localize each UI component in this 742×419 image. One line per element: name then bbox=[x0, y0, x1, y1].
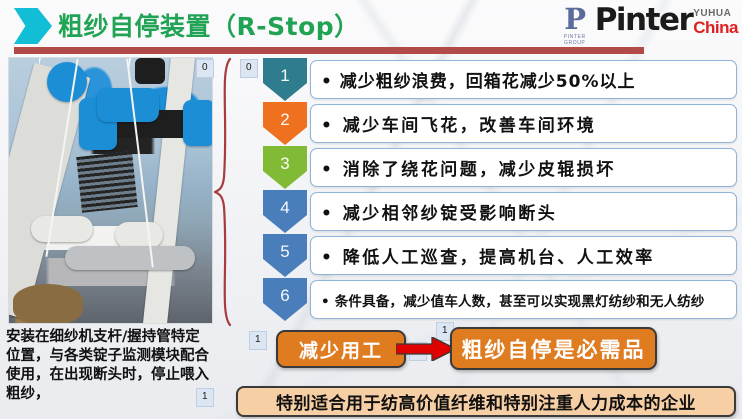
logo-mark-sub-group: GROUP bbox=[558, 40, 592, 46]
benefit-text-2: • 减少车间飞花，改善车间环境 bbox=[321, 111, 596, 136]
curly-brace-icon bbox=[214, 57, 240, 327]
benefit-box-2[interactable]: • 减少车间飞花，改善车间环境 bbox=[310, 104, 737, 143]
benefit-chevron-2: 2 bbox=[263, 102, 307, 145]
annotation-badge-0b: 0 bbox=[240, 59, 258, 78]
photo-detail-rail bbox=[8, 63, 90, 319]
benefit-text-4: • 减少相邻纱锭受影响断头 bbox=[321, 199, 557, 224]
title-underline-rule bbox=[14, 47, 644, 54]
benefit-number-5: 5 bbox=[280, 242, 289, 262]
logo-wordmark: Pinter bbox=[595, 6, 693, 35]
photo-caption: 安装在细纱机支杆/握持管特定位置，与各类锭子监测模块配合使用，在出现断头时，停止… bbox=[6, 328, 211, 405]
page-title: 粗纱自停装置（R-Stop） bbox=[58, 7, 360, 43]
photo-detail-knob bbox=[47, 62, 87, 102]
annotation-badge-0a: 0 bbox=[196, 59, 214, 78]
logo-p-glyph-icon: P bbox=[558, 6, 592, 34]
pinter-logo: P PINTER GROUP Pinter YUHUA China bbox=[558, 6, 738, 52]
benefit-text-3: • 消除了绕花问题，减少皮辊损坏 bbox=[321, 155, 616, 180]
benefit-number-4: 4 bbox=[280, 198, 289, 218]
arrow-marker-icon bbox=[14, 8, 52, 44]
benefit-number-3: 3 bbox=[280, 154, 289, 174]
pinter-logo-mark: P PINTER GROUP bbox=[558, 6, 592, 46]
logo-region-block: YUHUA China bbox=[693, 6, 738, 36]
benefit-box-1[interactable]: • 减少粗纱浪费，回箱花减少50%以上 bbox=[310, 60, 737, 99]
slide-canvas: 粗纱自停装置（R-Stop） P PINTER GROUP Pinter YUH… bbox=[0, 0, 742, 419]
photo-detail-roller-b bbox=[115, 222, 163, 248]
photo-detail-clip-c bbox=[183, 100, 213, 146]
benefit-chevron-1: 1 bbox=[263, 58, 307, 101]
logo-china-text: China bbox=[693, 19, 738, 36]
benefit-chevron-3: 3 bbox=[263, 146, 307, 189]
benefit-number-6: 6 bbox=[280, 286, 289, 306]
benefit-box-4[interactable]: • 减少相邻纱锭受影响断头 bbox=[310, 192, 737, 231]
benefit-chevron-6: 6 bbox=[263, 278, 307, 321]
benefit-row-3[interactable]: 3 • 消除了绕花问题，减少皮辊损坏 bbox=[263, 146, 737, 189]
photo-detail-clip-b bbox=[97, 88, 159, 122]
photo-detail-bobbin bbox=[13, 284, 83, 324]
benefit-row-5[interactable]: 5 • 降低人工巡查，提高机台、人工效率 bbox=[263, 234, 737, 277]
photo-detail-roller-a bbox=[31, 216, 93, 242]
photo-detail-bolt bbox=[135, 58, 165, 84]
benefit-row-4[interactable]: 4 • 减少相邻纱锭受影响断头 bbox=[263, 190, 737, 233]
roving-stop-device-photo bbox=[8, 57, 213, 324]
benefit-box-6[interactable]: • 条件具备，减少值车人数，甚至可以实现黑灯纺纱和无人纺纱 bbox=[310, 280, 737, 319]
benefit-text-5: • 降低人工巡查，提高机台、人工效率 bbox=[321, 243, 655, 268]
red-right-arrow-icon bbox=[396, 337, 456, 361]
annotation-badge-1b: 1 bbox=[249, 331, 267, 350]
benefit-chevron-4: 4 bbox=[263, 190, 307, 233]
footer-highlight-bar: 特别适合用于纺高价值纤维和特别注重人力成本的企业 bbox=[236, 386, 736, 417]
benefit-number-2: 2 bbox=[280, 110, 289, 130]
benefit-text-6: • 条件具备，减少值车人数，甚至可以实现黑灯纺纱和无人纺纱 bbox=[321, 290, 705, 310]
benefit-box-3[interactable]: • 消除了绕花问题，减少皮辊损坏 bbox=[310, 148, 737, 187]
conclusion-pill-right[interactable]: 粗纱自停是必需品 bbox=[450, 327, 657, 370]
photo-detail-grid bbox=[76, 151, 138, 213]
benefit-row-2[interactable]: 2 • 减少车间飞花，改善车间环境 bbox=[263, 102, 737, 145]
conclusion-pill-left[interactable]: 减少用工 bbox=[276, 330, 406, 368]
benefit-text-1: • 减少粗纱浪费，回箱花减少50%以上 bbox=[321, 67, 635, 92]
benefit-row-1[interactable]: 1 • 减少粗纱浪费，回箱花减少50%以上 bbox=[263, 58, 737, 101]
benefit-box-5[interactable]: • 降低人工巡查，提高机台、人工效率 bbox=[310, 236, 737, 275]
photo-detail-roller-c bbox=[65, 246, 195, 270]
benefits-list: 1 • 减少粗纱浪费，回箱花减少50%以上 2 • 减少车间飞花，改善车间环境 … bbox=[263, 58, 737, 322]
benefit-chevron-5: 5 bbox=[263, 234, 307, 277]
benefit-number-1: 1 bbox=[280, 66, 289, 86]
benefit-row-6[interactable]: 6 • 条件具备，减少值车人数，甚至可以实现黑灯纺纱和无人纺纱 bbox=[263, 278, 737, 321]
